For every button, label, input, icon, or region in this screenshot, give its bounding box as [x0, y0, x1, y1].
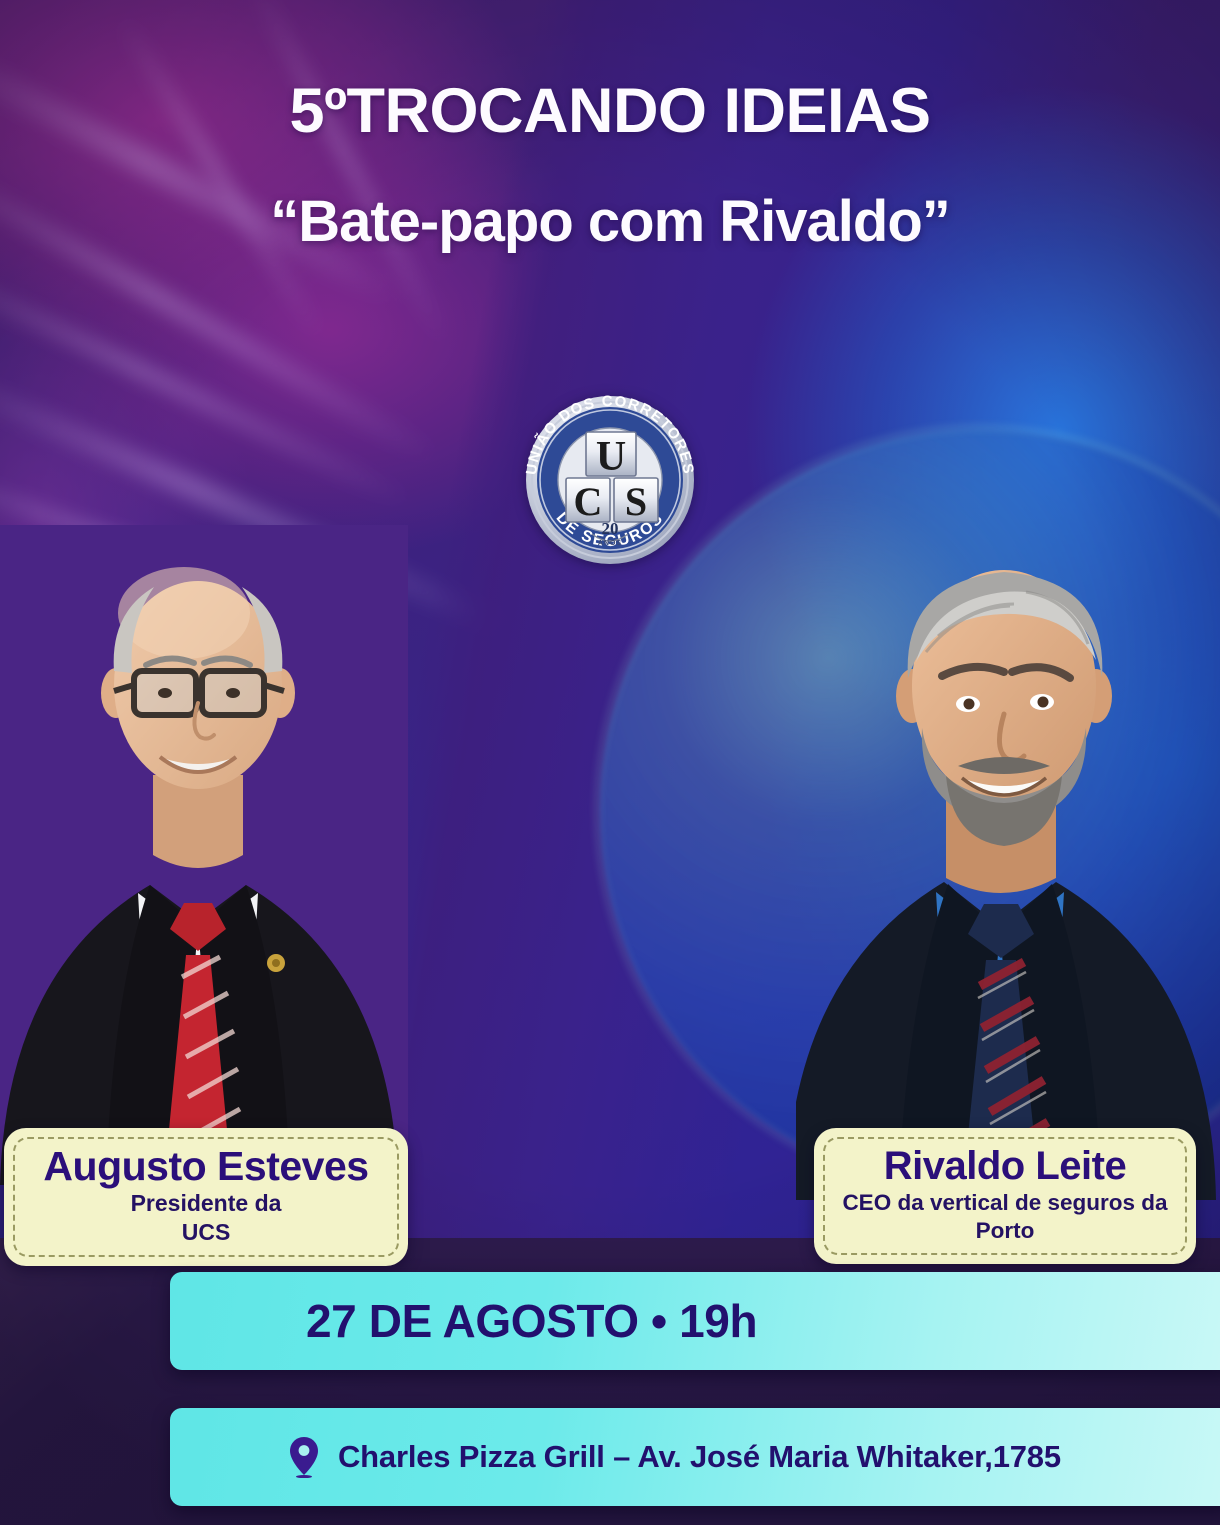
logo-letter-u: U — [596, 434, 626, 480]
map-pin-icon — [288, 1436, 320, 1478]
event-date-time: 27 DE AGOSTO • 19h — [306, 1294, 757, 1348]
ucs-logo: UNIÃO DOS CORRETORES DE SEGUROS U C S 20… — [508, 382, 712, 568]
logo-letter-s: S — [625, 479, 647, 524]
event-poster: 5ºTROCANDO IDEIAS “Bate-papo com Rivaldo… — [0, 0, 1220, 1525]
speaker-name: Augusto Esteves — [25, 1146, 387, 1188]
logo-anniversary-label: ANOS — [598, 540, 622, 547]
speaker-role-line1: CEO da vertical de seguros da — [835, 1190, 1175, 1215]
location-banner: Charles Pizza Grill – Av. José Maria Whi… — [170, 1408, 1220, 1506]
logo-anniversary-number: 20 — [602, 519, 619, 538]
speaker-role-line1: Presidente da — [25, 1191, 387, 1217]
speaker-name: Rivaldo Leite — [835, 1146, 1175, 1187]
event-location: Charles Pizza Grill – Av. José Maria Whi… — [338, 1439, 1061, 1475]
poster-heading: 5ºTROCANDO IDEIAS “Bate-papo com Rivaldo… — [0, 78, 1220, 253]
logo-letter-c: C — [574, 479, 603, 524]
speaker-photo-rivaldo-leite — [796, 500, 1220, 1200]
page-title: 5ºTROCANDO IDEIAS — [0, 78, 1220, 144]
speaker-badge-rivaldo-leite: Rivaldo Leite CEO da vertical de seguros… — [814, 1128, 1196, 1264]
speaker-photo-augusto-esteves — [0, 525, 408, 1185]
speaker-role-line2: Porto — [835, 1218, 1175, 1243]
page-subtitle: “Bate-papo com Rivaldo” — [0, 192, 1220, 253]
speaker-badge-augusto-esteves: Augusto Esteves Presidente da UCS — [4, 1128, 408, 1266]
speaker-role-line2: UCS — [25, 1220, 387, 1246]
date-banner: 27 DE AGOSTO • 19h — [170, 1272, 1220, 1370]
